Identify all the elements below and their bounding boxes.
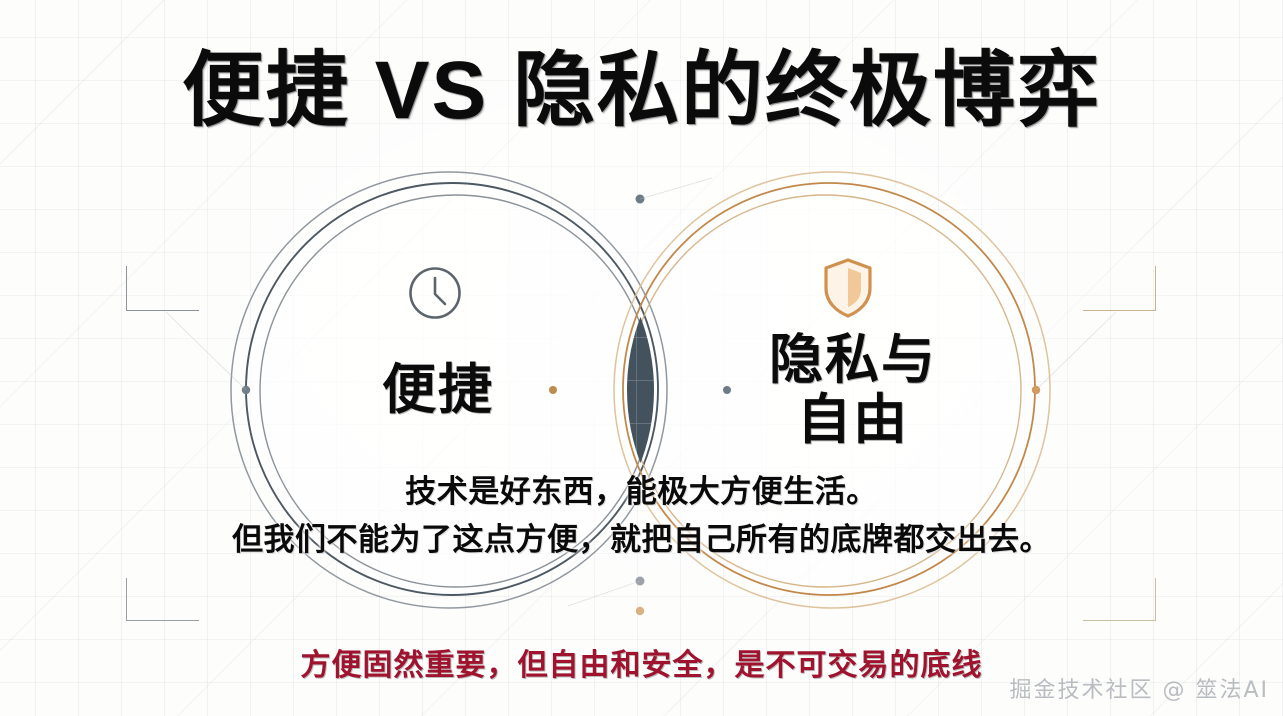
node-right	[1032, 386, 1040, 394]
node-top	[636, 195, 645, 204]
body-text: 技术是好东西，能极大方便生活。 但我们不能为了这点方便，就把自己所有的底牌都交出…	[0, 468, 1283, 564]
node-left	[242, 386, 250, 394]
body-line-2: 但我们不能为了这点方便，就把自己所有的底牌都交出去。	[0, 516, 1283, 564]
watermark: 掘金技术社区 @ 筮法AI	[1009, 672, 1269, 704]
left-circle-label: 便捷	[318, 360, 558, 420]
poster-canvas: 便捷 VS 隐私的终极博弈 便捷 隐私与 自由 技术是好东西，能极大方便生活。 …	[0, 0, 1283, 716]
node-bottom	[636, 577, 645, 586]
node-lower	[636, 607, 644, 615]
clock-icon	[404, 262, 466, 324]
corner-bracket-bottom-right	[1083, 578, 1156, 621]
corner-bracket-top-left	[126, 266, 199, 311]
page-title: 便捷 VS 隐私的终极博弈	[0, 48, 1283, 135]
corner-bracket-bottom-left	[126, 578, 199, 621]
body-line-1: 技术是好东西，能极大方便生活。	[0, 468, 1283, 516]
right-circle-label: 隐私与 自由	[728, 330, 978, 451]
corner-bracket-top-right	[1083, 266, 1156, 311]
shield-icon	[820, 256, 876, 320]
